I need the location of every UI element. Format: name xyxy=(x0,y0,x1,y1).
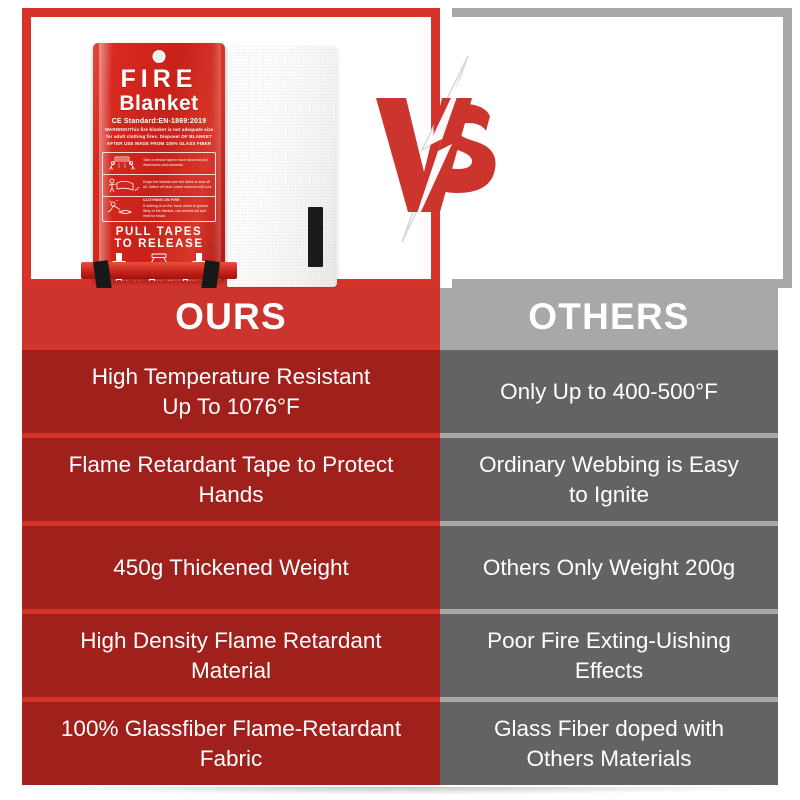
pull-tapes-hands-icon xyxy=(103,156,143,171)
instruction-step: Drape the blanket over the flame to seal… xyxy=(103,175,215,197)
table-row: High Temperature Resistant Up To 1076°F xyxy=(22,345,440,433)
table-row: Poor Fire Exting-Uishing Effects xyxy=(440,609,778,697)
cell-line-1: Others Only Weight 200g xyxy=(483,553,735,582)
cell-line-1: Poor Fire Exting-Uishing xyxy=(487,626,731,655)
package-standard: CE Standard:EN-1869:2019 xyxy=(102,118,216,125)
cell-line-2: Hands xyxy=(69,480,394,509)
others-cell: Ordinary Webbing is Easy to Ignite xyxy=(479,450,739,509)
cell-line-2: Effects xyxy=(487,656,731,685)
instruction-step-text: Drape the blanket over the flame to seal… xyxy=(143,180,215,191)
cell-line-1: 100% Glassfiber Flame-Retardant xyxy=(61,714,401,743)
table-row: High Density Flame Retardant Material xyxy=(22,609,440,697)
package-brand-fire: FIRE xyxy=(102,67,216,92)
clothing-on-fire-icon xyxy=(103,200,143,217)
comparison-table: OURS High Temperature Resistant Up To 10… xyxy=(22,288,778,788)
ours-cell: High Density Flame Retardant Material xyxy=(80,626,381,685)
cell-line-1: High Density Flame Retardant xyxy=(80,626,381,655)
cell-line-1: High Temperature Resistant xyxy=(92,362,370,391)
others-cell: Others Only Weight 200g xyxy=(483,553,735,582)
package-brand-blanket: Blanket xyxy=(102,93,216,115)
ours-strap-group xyxy=(81,255,237,287)
instruction-step: CLOTHING ON FIRE If clothing is on fire,… xyxy=(103,197,215,221)
table-row: Flame Retardant Tape to Protect Hands xyxy=(22,433,440,521)
drape-blanket-over-fire-icon xyxy=(103,177,143,193)
ours-package-print: FIRE Blanket CE Standard:EN-1869:2019 WA… xyxy=(93,67,225,281)
instruction-caption: CLOTHING ON FIRE xyxy=(143,198,213,203)
cell-line-2: Material xyxy=(80,656,381,685)
ours-column: OURS High Temperature Resistant Up To 10… xyxy=(22,288,440,788)
cell-line-1: Ordinary Webbing is Easy xyxy=(479,450,739,479)
table-row: Ordinary Webbing is Easy to Ignite xyxy=(440,433,778,521)
instruction-step-text: Take a release tape in each hand and pul… xyxy=(143,158,215,169)
cell-line-2: Others Materials xyxy=(494,744,724,773)
blanket-black-tab xyxy=(308,207,323,267)
package-warning-text: WARNING!This fire blanket is not adequat… xyxy=(102,127,216,148)
ours-cell: 100% Glassfiber Flame-Retardant Fabric xyxy=(61,714,401,773)
pull-line-2: TO RELEASE xyxy=(102,238,216,250)
table-row: Glass Fiber doped with Others Materials xyxy=(440,697,778,785)
fiberglass-blanket xyxy=(227,47,337,287)
cell-line-1: Flame Retardant Tape to Protect xyxy=(69,450,394,479)
table-row: 450g Thickened Weight xyxy=(22,521,440,609)
others-product-panel: FIRE Blanket CE Standard:EN-1869:2019 WA… xyxy=(452,8,792,288)
ours-cell: 450g Thickened Weight xyxy=(113,553,349,582)
ours-cell: High Temperature Resistant Up To 1076°F xyxy=(92,362,370,421)
instruction-step: Take a release tape in each hand and pul… xyxy=(103,153,215,175)
hero-product-photos: FIRE Blanket CE Standard:EN-1869:2019 WA… xyxy=(0,0,800,288)
table-row: 100% Glassfiber Flame-Retardant Fabric xyxy=(22,697,440,785)
cell-line-1: Glass Fiber doped with xyxy=(494,714,724,743)
others-cell: Poor Fire Exting-Uishing Effects xyxy=(487,626,731,685)
cell-line-2: to Ignite xyxy=(479,480,739,509)
others-header: OTHERS xyxy=(440,288,778,345)
cell-line-1: Only Up to 400-500°F xyxy=(500,377,718,406)
ours-header: OURS xyxy=(22,288,440,345)
table-row: Only Up to 400-500°F xyxy=(440,345,778,433)
cell-line-1: 450g Thickened Weight xyxy=(113,553,349,582)
ours-package: FIRE Blanket CE Standard:EN-1869:2019 WA… xyxy=(93,43,225,281)
others-cell: Glass Fiber doped with Others Materials xyxy=(494,714,724,773)
table-row: Others Only Weight 200g xyxy=(440,521,778,609)
hang-hole-icon xyxy=(153,50,166,63)
ours-cell: Flame Retardant Tape to Protect Hands xyxy=(69,450,394,509)
instruction-step-body: If clothing is on fire, force victim to … xyxy=(143,204,209,219)
others-column: OTHERS Only Up to 400-500°F Ordinary Web… xyxy=(440,288,778,788)
cell-line-2: Up To 1076°F xyxy=(92,392,370,421)
package-pull-instruction: PULL TAPES TO RELEASE xyxy=(102,226,216,251)
others-cell: Only Up to 400-500°F xyxy=(500,377,718,406)
cell-line-2: Fabric xyxy=(61,744,401,773)
comparison-infographic: FIRE Blanket CE Standard:EN-1869:2019 WA… xyxy=(0,0,800,800)
ours-product-panel: FIRE Blanket CE Standard:EN-1869:2019 WA… xyxy=(22,8,440,288)
instruction-step-text: CLOTHING ON FIRE If clothing is on fire,… xyxy=(143,198,215,220)
pull-line-1: PULL TAPES xyxy=(102,226,216,238)
package-instruction-box: Take a release tape in each hand and pul… xyxy=(102,152,216,222)
